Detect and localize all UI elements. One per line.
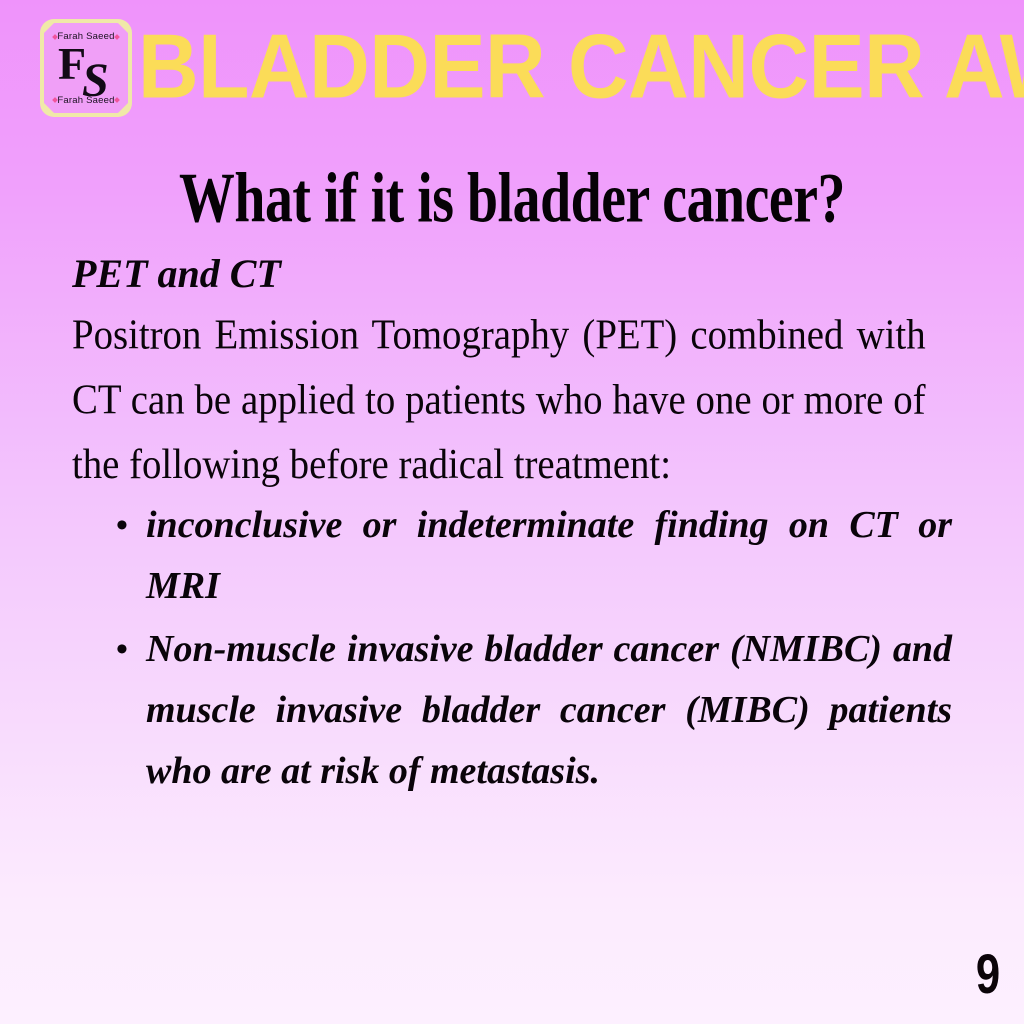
list-item: inconclusive or indeterminate finding on… — [72, 495, 952, 617]
slide-content: What if it is bladder cancer? PET and CT… — [72, 146, 952, 804]
banner-title: BLADDER CANCER AWARENESS — [138, 16, 1004, 115]
page-title: What if it is bladder cancer? — [103, 160, 921, 236]
list-item: Non-muscle invasive bladder cancer (NMIB… — [72, 619, 952, 802]
bullet-list: inconclusive or indeterminate finding on… — [72, 495, 952, 802]
slide-header: Farah Saeed F S Farah Saeed BLADDER CANC… — [0, 0, 1024, 128]
section-subheading: PET and CT — [72, 252, 952, 296]
page-number: 9 — [976, 946, 1000, 1002]
brand-logo-badge: Farah Saeed F S Farah Saeed — [40, 19, 132, 117]
body-paragraph: Positron Emission Tomography (PET) combi… — [72, 302, 926, 496]
slide-canvas: Farah Saeed F S Farah Saeed BLADDER CANC… — [0, 0, 1024, 1024]
brand-logo-plaque: Farah Saeed F S Farah Saeed — [44, 23, 128, 113]
brand-name-bottom: Farah Saeed — [44, 95, 128, 106]
